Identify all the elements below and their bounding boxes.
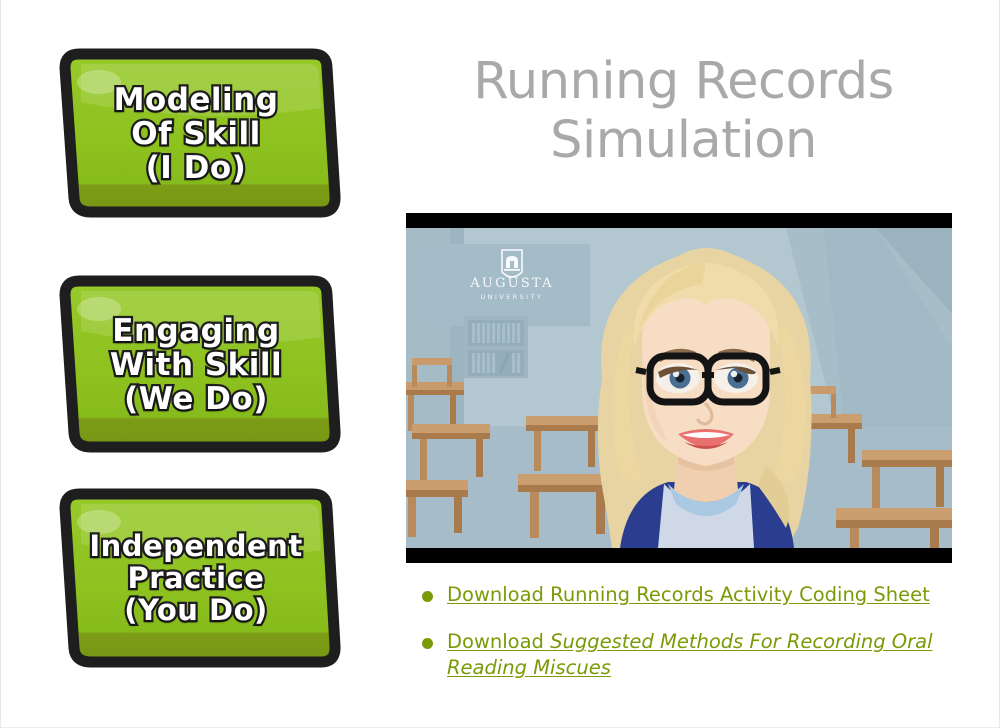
download-coding-sheet-link[interactable]: Download Running Records Activity Coding… bbox=[447, 583, 930, 606]
link-prefix: Download bbox=[447, 630, 550, 653]
banner-engaging-with-skill[interactable]: Engaging With Skill (We Do) bbox=[51, 275, 341, 455]
download-link-list: Download Running Records Activity Coding… bbox=[414, 582, 974, 702]
svg-text:UNIVERSITY: UNIVERSITY bbox=[481, 294, 544, 301]
page-title: Running Records Simulation bbox=[401, 52, 966, 170]
banner-shape bbox=[51, 275, 341, 455]
page-title-line-1: Running Records bbox=[401, 52, 966, 111]
lesson-phase-banner-group: Modeling Of Skill (I Do) bbox=[1, 0, 396, 728]
banner-independent-practice[interactable]: Independent Practice (You Do) bbox=[51, 488, 341, 670]
page-title-line-2: Simulation bbox=[401, 111, 966, 170]
list-item: Download Suggested Methods For Recording… bbox=[414, 629, 974, 680]
classroom-scene: AUGUSTA UNIVERSITY bbox=[406, 228, 952, 548]
bullet-icon bbox=[422, 591, 433, 602]
banner-modeling-of-skill[interactable]: Modeling Of Skill (I Do) bbox=[51, 48, 341, 220]
content-column: Running Records Simulation bbox=[396, 0, 1000, 728]
banner-shape bbox=[51, 48, 341, 220]
character-teacher bbox=[598, 248, 812, 548]
link-title: Running Records Activity Coding Sheet bbox=[550, 583, 930, 606]
banner-shape bbox=[51, 488, 341, 670]
video-player[interactable]: AUGUSTA UNIVERSITY bbox=[406, 213, 952, 563]
link-prefix: Download bbox=[447, 583, 550, 606]
slide-canvas: Modeling Of Skill (I Do) bbox=[0, 0, 1000, 728]
bullet-icon bbox=[422, 638, 433, 649]
svg-text:AUGUSTA: AUGUSTA bbox=[469, 276, 553, 291]
list-item: Download Running Records Activity Coding… bbox=[414, 582, 974, 607]
video-frame: AUGUSTA UNIVERSITY bbox=[406, 228, 952, 548]
download-suggested-methods-link[interactable]: Download Suggested Methods For Recording… bbox=[447, 630, 933, 678]
